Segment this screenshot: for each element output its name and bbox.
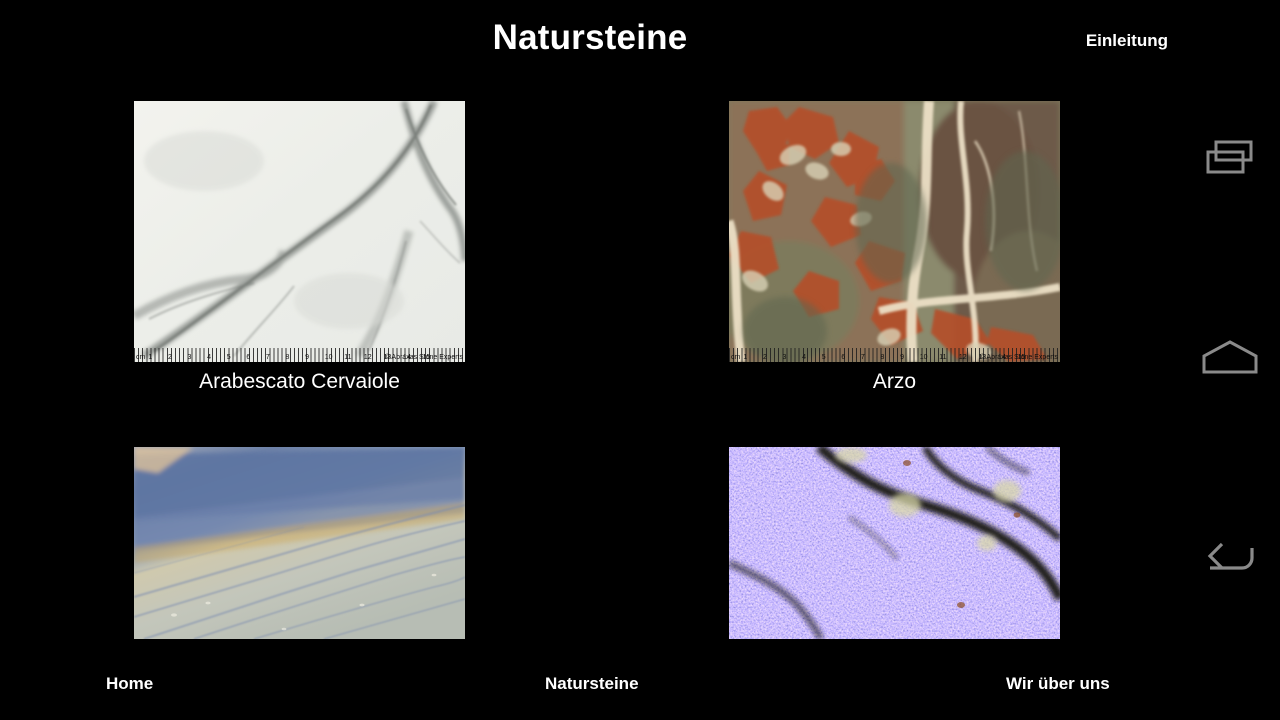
ruler-tick: 1 bbox=[148, 353, 168, 362]
ruler-tick: 10 bbox=[325, 353, 345, 362]
ruler-tick: 9 bbox=[305, 353, 325, 362]
ruler-tick: 8 bbox=[286, 353, 306, 362]
nav-item-natursteine[interactable]: Natursteine bbox=[545, 674, 639, 694]
marble-texture-white bbox=[134, 101, 465, 362]
nav-item-home[interactable]: Home bbox=[106, 674, 153, 694]
ruler-unit: cm bbox=[731, 353, 740, 362]
back-button[interactable] bbox=[1180, 508, 1280, 608]
home-icon bbox=[1199, 336, 1261, 380]
ruler-tick: 5 bbox=[822, 353, 842, 362]
stone-thumb-blue-banded[interactable] bbox=[134, 447, 465, 639]
ruler-tick: 5 bbox=[227, 353, 247, 362]
stone-cell[interactable]: cm 1 2 3 4 5 6 7 8 9 10 11 12 bbox=[729, 101, 1060, 395]
ruler-tick: 10 bbox=[920, 353, 940, 362]
web-content-viewport: Natursteine Einleitung bbox=[0, 0, 1180, 720]
ruler-tick: 4 bbox=[207, 353, 227, 362]
ruler-credit: © Abraxas Stone Experts bbox=[980, 354, 1058, 361]
nav-item-wir-ueber-uns[interactable]: Wir über uns bbox=[1006, 674, 1110, 694]
stone-cell[interactable]: cm 1 2 3 4 5 6 7 8 9 10 11 12 bbox=[134, 101, 465, 395]
ruler-tick: 7 bbox=[266, 353, 286, 362]
home-button[interactable] bbox=[1180, 308, 1280, 408]
back-icon bbox=[1200, 536, 1260, 580]
stone-label: Arzo bbox=[729, 369, 1060, 395]
ruler-tick: 2 bbox=[168, 353, 188, 362]
stone-thumb-arzo[interactable]: cm 1 2 3 4 5 6 7 8 9 10 11 12 bbox=[729, 101, 1060, 362]
ruler-tick: 11 bbox=[344, 353, 364, 362]
ruler-tick: 12 bbox=[364, 353, 384, 362]
ruler-tick: 2 bbox=[763, 353, 783, 362]
stone-cell[interactable] bbox=[729, 447, 1060, 639]
intro-link[interactable]: Einleitung bbox=[1086, 31, 1168, 51]
ruler-tick: 3 bbox=[783, 353, 803, 362]
page-header: Natursteine Einleitung bbox=[0, 0, 1180, 88]
ruler-overlay: cm 1 2 3 4 5 6 7 8 9 10 11 12 bbox=[729, 348, 1060, 362]
stone-grid: cm 1 2 3 4 5 6 7 8 9 10 11 12 bbox=[0, 101, 1180, 661]
bottom-navigation: Home Natursteine Wir über uns bbox=[0, 674, 1180, 704]
stone-cell[interactable] bbox=[134, 447, 465, 639]
recent-apps-icon bbox=[1200, 134, 1260, 182]
ruler-tick: 4 bbox=[802, 353, 822, 362]
ruler-tick: 1 bbox=[743, 353, 763, 362]
ruler-tick: 7 bbox=[861, 353, 881, 362]
recent-apps-button[interactable] bbox=[1180, 108, 1280, 208]
ruler-tick: 11 bbox=[939, 353, 959, 362]
ruler-tick: 6 bbox=[841, 353, 861, 362]
ruler-credit: © Abraxas Stone Experts bbox=[385, 354, 463, 361]
granite-texture-blue-speckled bbox=[729, 447, 1060, 639]
app-screen: Natursteine Einleitung bbox=[0, 0, 1280, 720]
stone-thumb-arabescato-cervaiole[interactable]: cm 1 2 3 4 5 6 7 8 9 10 11 12 bbox=[134, 101, 465, 362]
ruler-tick: 12 bbox=[959, 353, 979, 362]
marble-texture-blue-banded bbox=[134, 447, 465, 639]
ruler-tick: 3 bbox=[188, 353, 208, 362]
ruler-tick: 8 bbox=[881, 353, 901, 362]
stone-thumb-blue-speckled[interactable] bbox=[729, 447, 1060, 639]
ruler-overlay: cm 1 2 3 4 5 6 7 8 9 10 11 12 bbox=[134, 348, 465, 362]
ruler-tick: 9 bbox=[900, 353, 920, 362]
ruler-unit: cm bbox=[136, 353, 145, 362]
stone-label: Arabescato Cervaiole bbox=[134, 369, 465, 395]
marble-texture-breccia bbox=[729, 101, 1060, 362]
page-title: Natursteine bbox=[0, 18, 1180, 58]
ruler-tick: 6 bbox=[246, 353, 266, 362]
android-system-navigation-bar bbox=[1180, 0, 1280, 720]
